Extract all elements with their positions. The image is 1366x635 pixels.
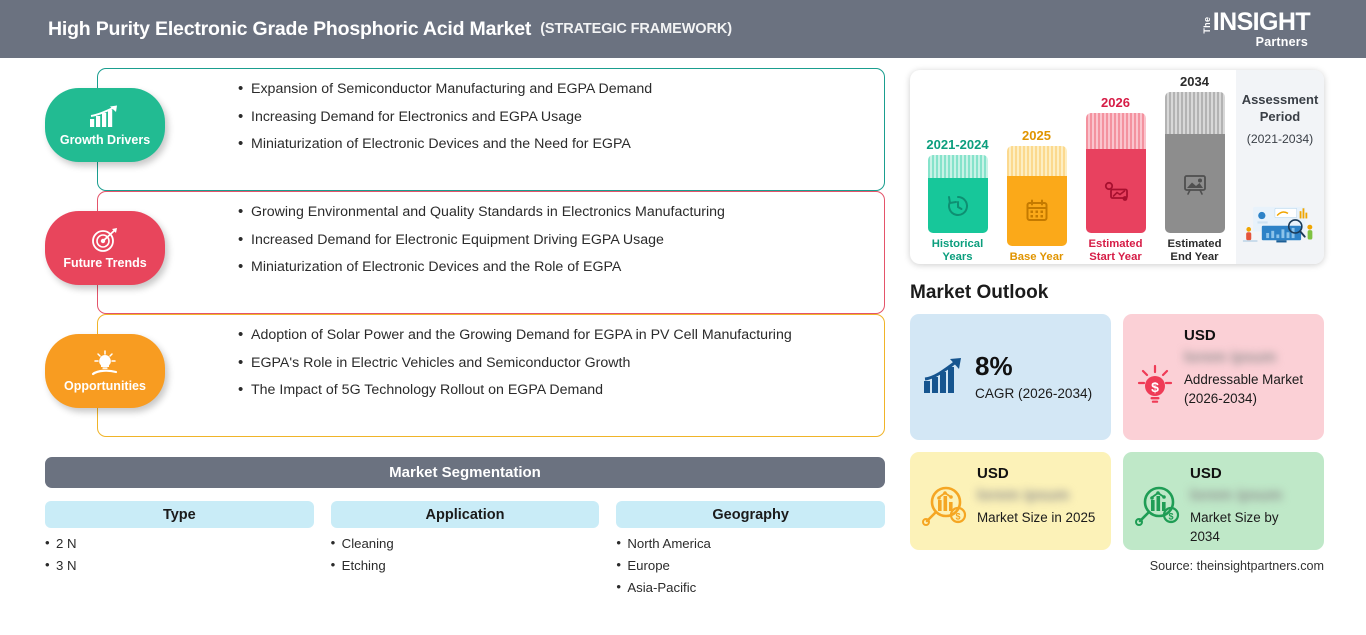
column-header: Geography (616, 501, 885, 528)
page-header: High Purity Electronic Grade Phosphoric … (0, 0, 1366, 58)
market-outlook-title: Market Outlook (910, 282, 1366, 304)
growth-drivers-bullets: Expansion of Semiconductor Manufacturing… (238, 82, 884, 152)
market-size-2025-body: USD lorem ipsum Market Size in 2025 (977, 466, 1095, 536)
bar-chart-growth-icon (88, 104, 122, 130)
cagr-value: 8% (975, 353, 1092, 379)
bar-year-label: 2021-2024 (926, 137, 988, 152)
forecast-monitor-icon (1102, 178, 1130, 204)
market-segmentation: Market Segmentation Type 2 N 3 N Applica… (45, 457, 885, 604)
list-item: Asia-Pacific (616, 581, 885, 594)
segmentation-column-application: Application Cleaning Etching (331, 501, 600, 604)
bar-stripe (1086, 113, 1146, 149)
cagr-card[interactable]: 8% CAGR (2026-2034) (910, 314, 1111, 440)
pillar-opportunities: Adoption of Solar Power and the Growing … (45, 314, 885, 437)
market-size-2034-card[interactable]: $ USD lorem ipsum Market Size by 2034 (1123, 452, 1324, 550)
bar-shape (1165, 92, 1225, 233)
badge-label: Growth Drivers (60, 133, 150, 147)
list-item: Growing Environmental and Quality Standa… (238, 205, 884, 219)
list-item: Increased Demand for Electronic Equipmen… (238, 233, 884, 247)
logo-the-text: The (1203, 17, 1212, 34)
lightbulb-hand-icon (89, 350, 121, 376)
badge-opportunities[interactable]: Opportunities (45, 334, 165, 408)
bar-stripe (1165, 92, 1225, 134)
list-item: Europe (616, 559, 885, 572)
bar-shape (1007, 146, 1067, 246)
pillar-growth-drivers: Expansion of Semiconductor Manufacturing… (45, 68, 885, 191)
target-dart-icon (90, 227, 120, 253)
list-item: Miniaturization of Electronic Devices an… (238, 137, 884, 151)
data-analytics-illustration (1240, 194, 1320, 256)
logo-partners-text: Partners (1203, 36, 1310, 49)
bar-solid (1165, 134, 1225, 233)
future-trends-box: Growing Environmental and Quality Standa… (97, 191, 885, 314)
svg-text:$: $ (1151, 379, 1159, 395)
currency-label: USD (1184, 328, 1312, 343)
opportunities-bullets: Adoption of Solar Power and the Growing … (238, 328, 884, 398)
list-item: EGPA's Role in Electric Vehicles and Sem… (238, 356, 884, 370)
bar-year-label: 2025 (1022, 128, 1051, 143)
column-items: Cleaning Etching (331, 537, 600, 572)
calendar-icon (1024, 198, 1050, 224)
opportunities-box: Adoption of Solar Power and the Growing … (97, 314, 885, 437)
list-item: Adoption of Solar Power and the Growing … (238, 328, 884, 342)
bar-shape (928, 155, 988, 233)
addressable-market-body: USD lorem ipsum Addressable Market (2026… (1184, 328, 1312, 426)
badge-label: Opportunities (64, 379, 146, 393)
growth-drivers-box: Expansion of Semiconductor Manufacturing… (97, 68, 885, 191)
currency-label: USD (1190, 466, 1312, 481)
bar-caption: Estimated End Year (1161, 238, 1228, 264)
segmentation-column-geography: Geography North America Europe Asia-Paci… (616, 501, 885, 604)
bar-base-year: 2025 (1003, 128, 1070, 264)
page-subtitle: (STRATEGIC FRAMEWORK) (540, 21, 732, 37)
lightbulb-dollar-icon: $ (1135, 328, 1175, 426)
bar-stripe (1007, 146, 1067, 176)
bar-solid (1007, 176, 1067, 246)
market-outlook-cards: 8% CAGR (2026-2034) (910, 314, 1324, 550)
card-label: Market Size in 2025 (977, 508, 1095, 527)
redacted-value: lorem ipsum (977, 488, 1095, 504)
assessment-years: (2021-2034) (1247, 132, 1313, 146)
bar-solid (1086, 149, 1146, 233)
list-item: The Impact of 5G Technology Rollout on E… (238, 383, 884, 397)
list-item: Increasing Demand for Electronics and EG… (238, 110, 884, 124)
bar-chart-arrow-up-icon (922, 357, 966, 397)
timeline-bars: 2021-2024 Historical Years (910, 70, 1236, 264)
future-trends-bullets: Growing Environmental and Quality Standa… (238, 205, 884, 275)
column-header: Type (45, 501, 314, 528)
card-label: Addressable Market (2026-2034) (1184, 370, 1312, 408)
market-size-2025-card[interactable]: $ USD lorem ipsum Market Size in 2025 (910, 452, 1111, 550)
list-item: 2 N (45, 537, 314, 550)
column-items: North America Europe Asia-Pacific (616, 537, 885, 595)
bar-year-label: 2026 (1101, 95, 1130, 110)
market-size-2034-body: USD lorem ipsum Market Size by 2034 (1190, 466, 1312, 536)
assessment-title-line1: Assessment (1242, 92, 1319, 109)
cagr-label: CAGR (2026-2034) (975, 386, 1092, 401)
cagr-body: 8% CAGR (2026-2034) (975, 353, 1092, 401)
redacted-value: lorem ipsum (1190, 488, 1312, 504)
addressable-market-card[interactable]: $ USD lorem ipsum Addressable Market (20… (1123, 314, 1324, 440)
source-attribution: Source: theinsightpartners.com (905, 559, 1324, 573)
list-item: Miniaturization of Electronic Devices an… (238, 260, 884, 274)
bar-stripe (928, 155, 988, 178)
pillar-future-trends: Growing Environmental and Quality Standa… (45, 191, 885, 314)
bar-estimated-end-year: 2034 Estimated End Year (1161, 74, 1228, 264)
badge-growth-drivers[interactable]: Growth Drivers (45, 88, 165, 162)
bar-caption: Base Year (1010, 251, 1064, 264)
history-clock-icon (945, 193, 971, 219)
list-item: 3 N (45, 559, 314, 572)
list-item: Expansion of Semiconductor Manufacturing… (238, 82, 884, 96)
svg-text:$: $ (955, 512, 960, 522)
segmentation-column-type: Type 2 N 3 N (45, 501, 314, 604)
card-label: Market Size by 2034 (1190, 508, 1312, 546)
redacted-value: lorem ipsum (1184, 350, 1312, 366)
list-item: North America (616, 537, 885, 550)
segmentation-title: Market Segmentation (45, 457, 885, 488)
column-items: 2 N 3 N (45, 537, 314, 572)
bar-historical-years: 2021-2024 Historical Years (924, 137, 991, 264)
assessment-period-chart: 2021-2024 Historical Years (910, 70, 1324, 264)
page-body: Expansion of Semiconductor Manufacturing… (0, 58, 1366, 635)
insight-partners-logo: The INSIGHT Partners (1203, 10, 1310, 49)
page-title: High Purity Electronic Grade Phosphoric … (48, 18, 531, 41)
bar-estimated-start-year: 2026 Estimated Start Year (1082, 95, 1149, 264)
svg-text:$: $ (1168, 512, 1173, 522)
magnifier-bars-dollar-icon: $ (922, 466, 968, 536)
left-column: Expansion of Semiconductor Manufacturing… (0, 58, 905, 635)
bar-shape (1086, 113, 1146, 233)
bar-year-label: 2034 (1180, 74, 1209, 89)
presentation-screen-icon (1181, 171, 1209, 197)
currency-label: USD (977, 466, 1095, 481)
logo-insight-text: INSIGHT (1213, 10, 1310, 35)
bar-caption: Historical Years (924, 238, 991, 264)
list-item: Etching (331, 559, 600, 572)
list-item: Cleaning (331, 537, 600, 550)
segmentation-columns: Type 2 N 3 N Application Cleaning Etchin… (45, 501, 885, 604)
right-column: 2021-2024 Historical Years (905, 58, 1366, 635)
assessment-title-line2: Period (1260, 109, 1300, 126)
bar-caption: Estimated Start Year (1082, 238, 1149, 264)
badge-label: Future Trends (63, 256, 146, 270)
column-header: Application (331, 501, 600, 528)
assessment-period-panel: Assessment Period (2021-2034) (1236, 70, 1324, 264)
bar-solid (928, 178, 988, 233)
magnifier-bars-dollar-icon: $ (1135, 466, 1181, 536)
badge-future-trends[interactable]: Future Trends (45, 211, 165, 285)
